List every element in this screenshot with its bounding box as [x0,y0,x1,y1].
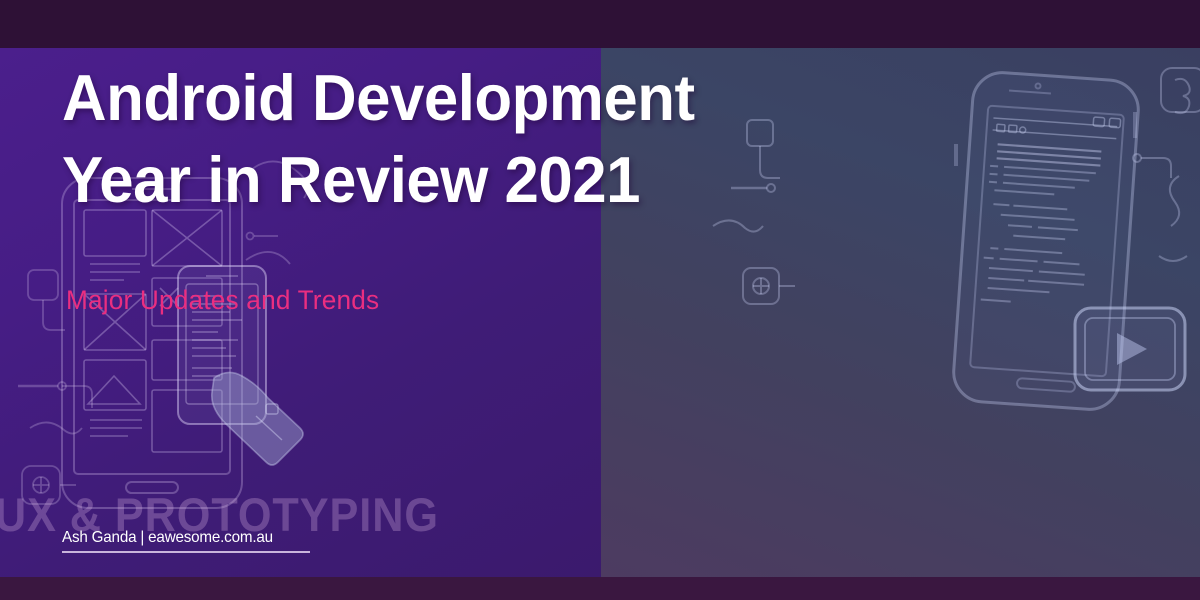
subtitle: Major Updates and Trends [66,283,379,317]
title-line-1: Android Development [62,57,851,139]
presentation-slide: /UX & PROTOTYPING [0,0,1200,600]
attribution-underline [62,551,310,553]
top-band [0,0,1200,48]
attribution: Ash Ganda | eawesome.com.au [62,528,310,553]
title-block: Android Development Year in Review 2021 [62,57,892,221]
title-line-2: Year in Review 2021 [62,139,851,221]
bottom-band [0,577,1200,600]
attribution-text: Ash Ganda | eawesome.com.au [62,528,298,548]
